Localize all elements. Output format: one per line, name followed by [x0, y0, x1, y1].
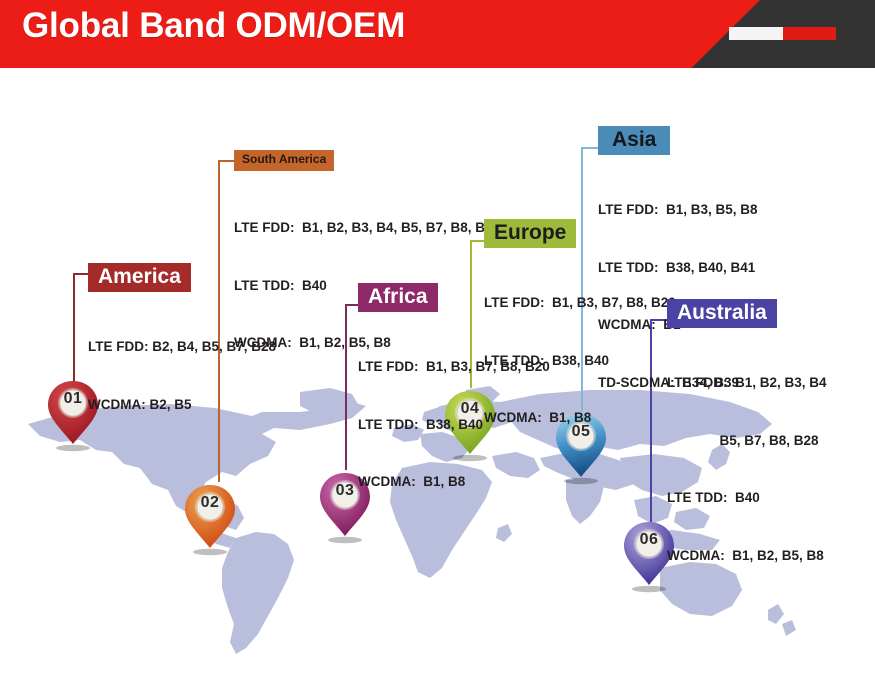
- region-label-europe: Europe: [484, 219, 576, 248]
- region-label-america: America: [88, 263, 191, 292]
- band-line: LTE FDD: B1, B2, B3, B4: [667, 373, 827, 392]
- band-line: WCDMA: B2, B5: [88, 395, 276, 414]
- band-line: B5, B7, B8, B28: [667, 431, 827, 450]
- band-line: LTE FDD: B1, B3, B5, B8: [598, 200, 758, 219]
- band-line: WCDMA: B1, B2, B5, B8: [667, 546, 827, 565]
- band-line: WCDMA: B1, B8: [358, 472, 550, 491]
- header-bar: Global Band ODM/OEM: [0, 0, 875, 68]
- region-label-africa: Africa: [358, 283, 438, 312]
- logo-white-segment: [729, 27, 783, 40]
- infographic-page: Global Band ODM/OEM: [0, 0, 875, 676]
- brand-logo-icon: [729, 27, 836, 40]
- region-bands-australia: LTE FDD: B1, B2, B3, B4 B5, B7, B8, B28 …: [667, 335, 827, 603]
- page-title: Global Band ODM/OEM: [22, 6, 405, 46]
- region-label-asia: Asia: [598, 126, 670, 155]
- band-line: LTE FDD: B1, B2, B3, B4, B5, B7, B8, B28: [234, 218, 500, 237]
- band-line: LTE TDD: B38, B40, B41: [598, 258, 758, 277]
- map-pin-02[interactable]: 02: [182, 482, 238, 556]
- band-line: LTE TDD: B40: [667, 488, 827, 507]
- logo-red-segment: [783, 27, 837, 40]
- connector-america-vertical: [73, 273, 75, 388]
- region-label-australia: Australia: [667, 299, 777, 328]
- region-australia: Australia LTE FDD: B1, B2, B3, B4 B5, B7…: [667, 299, 827, 603]
- region-label-south-america: South America: [234, 150, 334, 171]
